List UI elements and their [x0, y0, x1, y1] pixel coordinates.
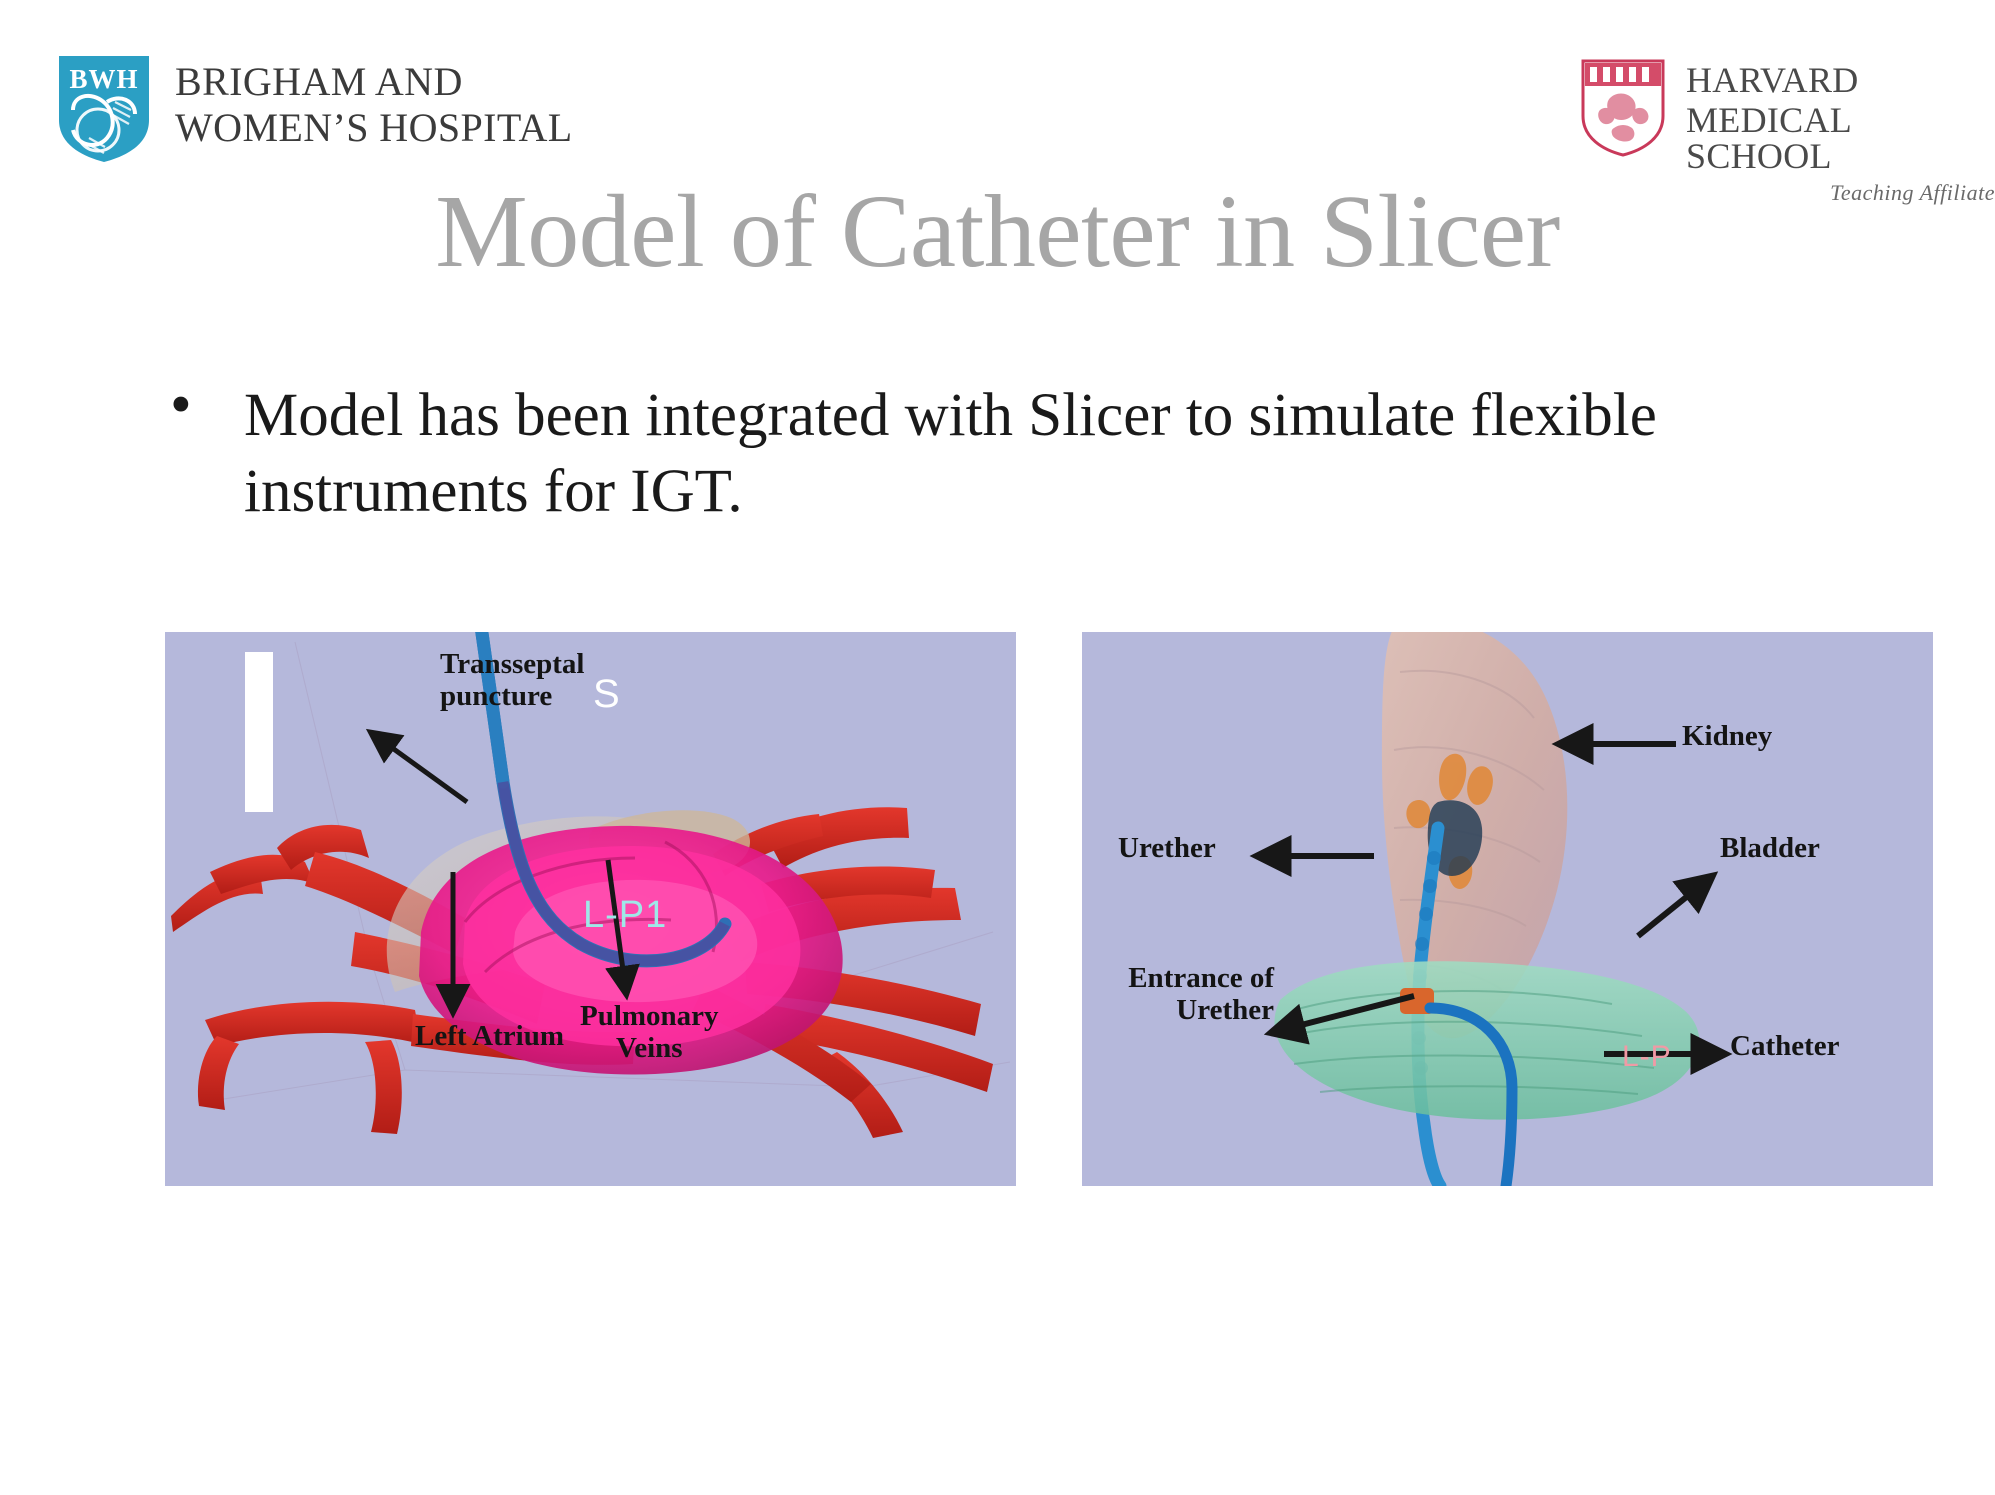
annotation-pulmonary-veins: Pulmonary Veins [580, 1000, 719, 1065]
slide-root: BWH BRIGHAM AND WOMEN’S HOSPITAL [0, 0, 1995, 1495]
bwh-line1: BRIGHAM AND [175, 62, 573, 102]
urinary-render [1082, 632, 1933, 1186]
fiducial-label-l-p1: L-P1 [583, 894, 667, 937]
hms-line2: MEDICAL SCHOOL [1686, 102, 1995, 174]
annotation-kidney: Kidney [1682, 720, 1772, 752]
fiducial-label-l-p: L-P [1622, 1040, 1672, 1074]
bwh-logo: BWH BRIGHAM AND WOMEN’S HOSPITAL [55, 52, 573, 164]
list-item: • Model has been integrated with Slicer … [170, 378, 1815, 529]
harvard-shield-icon [1580, 58, 1666, 158]
annotation-catheter: Catheter [1730, 1030, 1840, 1062]
bullet-text: Model has been integrated with Slicer to… [244, 378, 1814, 529]
annotation-bladder: Bladder [1720, 832, 1820, 864]
figure-urinary-view: Kidney Urether Bladder Entrance of Ureth… [1082, 632, 1933, 1186]
page-title: Model of Catheter in Slicer [0, 180, 1995, 284]
bwh-shield-icon: BWH [55, 52, 153, 164]
hms-line1: HARVARD [1686, 62, 1995, 98]
orientation-label-s: S [593, 672, 621, 717]
svg-text:BWH: BWH [69, 64, 138, 94]
figure-cardiac-view: Transseptal puncture Left Atrium Pulmona… [165, 632, 1016, 1186]
annotation-entrance-of-urether: Entrance of Urether [1104, 962, 1274, 1027]
annotation-urether: Urether [1118, 832, 1216, 864]
annotation-transseptal-puncture: Transseptal puncture [440, 648, 584, 713]
bwh-line2: WOMEN’S HOSPITAL [175, 108, 573, 148]
bullet-marker: • [170, 378, 244, 434]
bullet-list: • Model has been integrated with Slicer … [170, 378, 1815, 529]
annotation-left-atrium: Left Atrium [415, 1020, 564, 1052]
